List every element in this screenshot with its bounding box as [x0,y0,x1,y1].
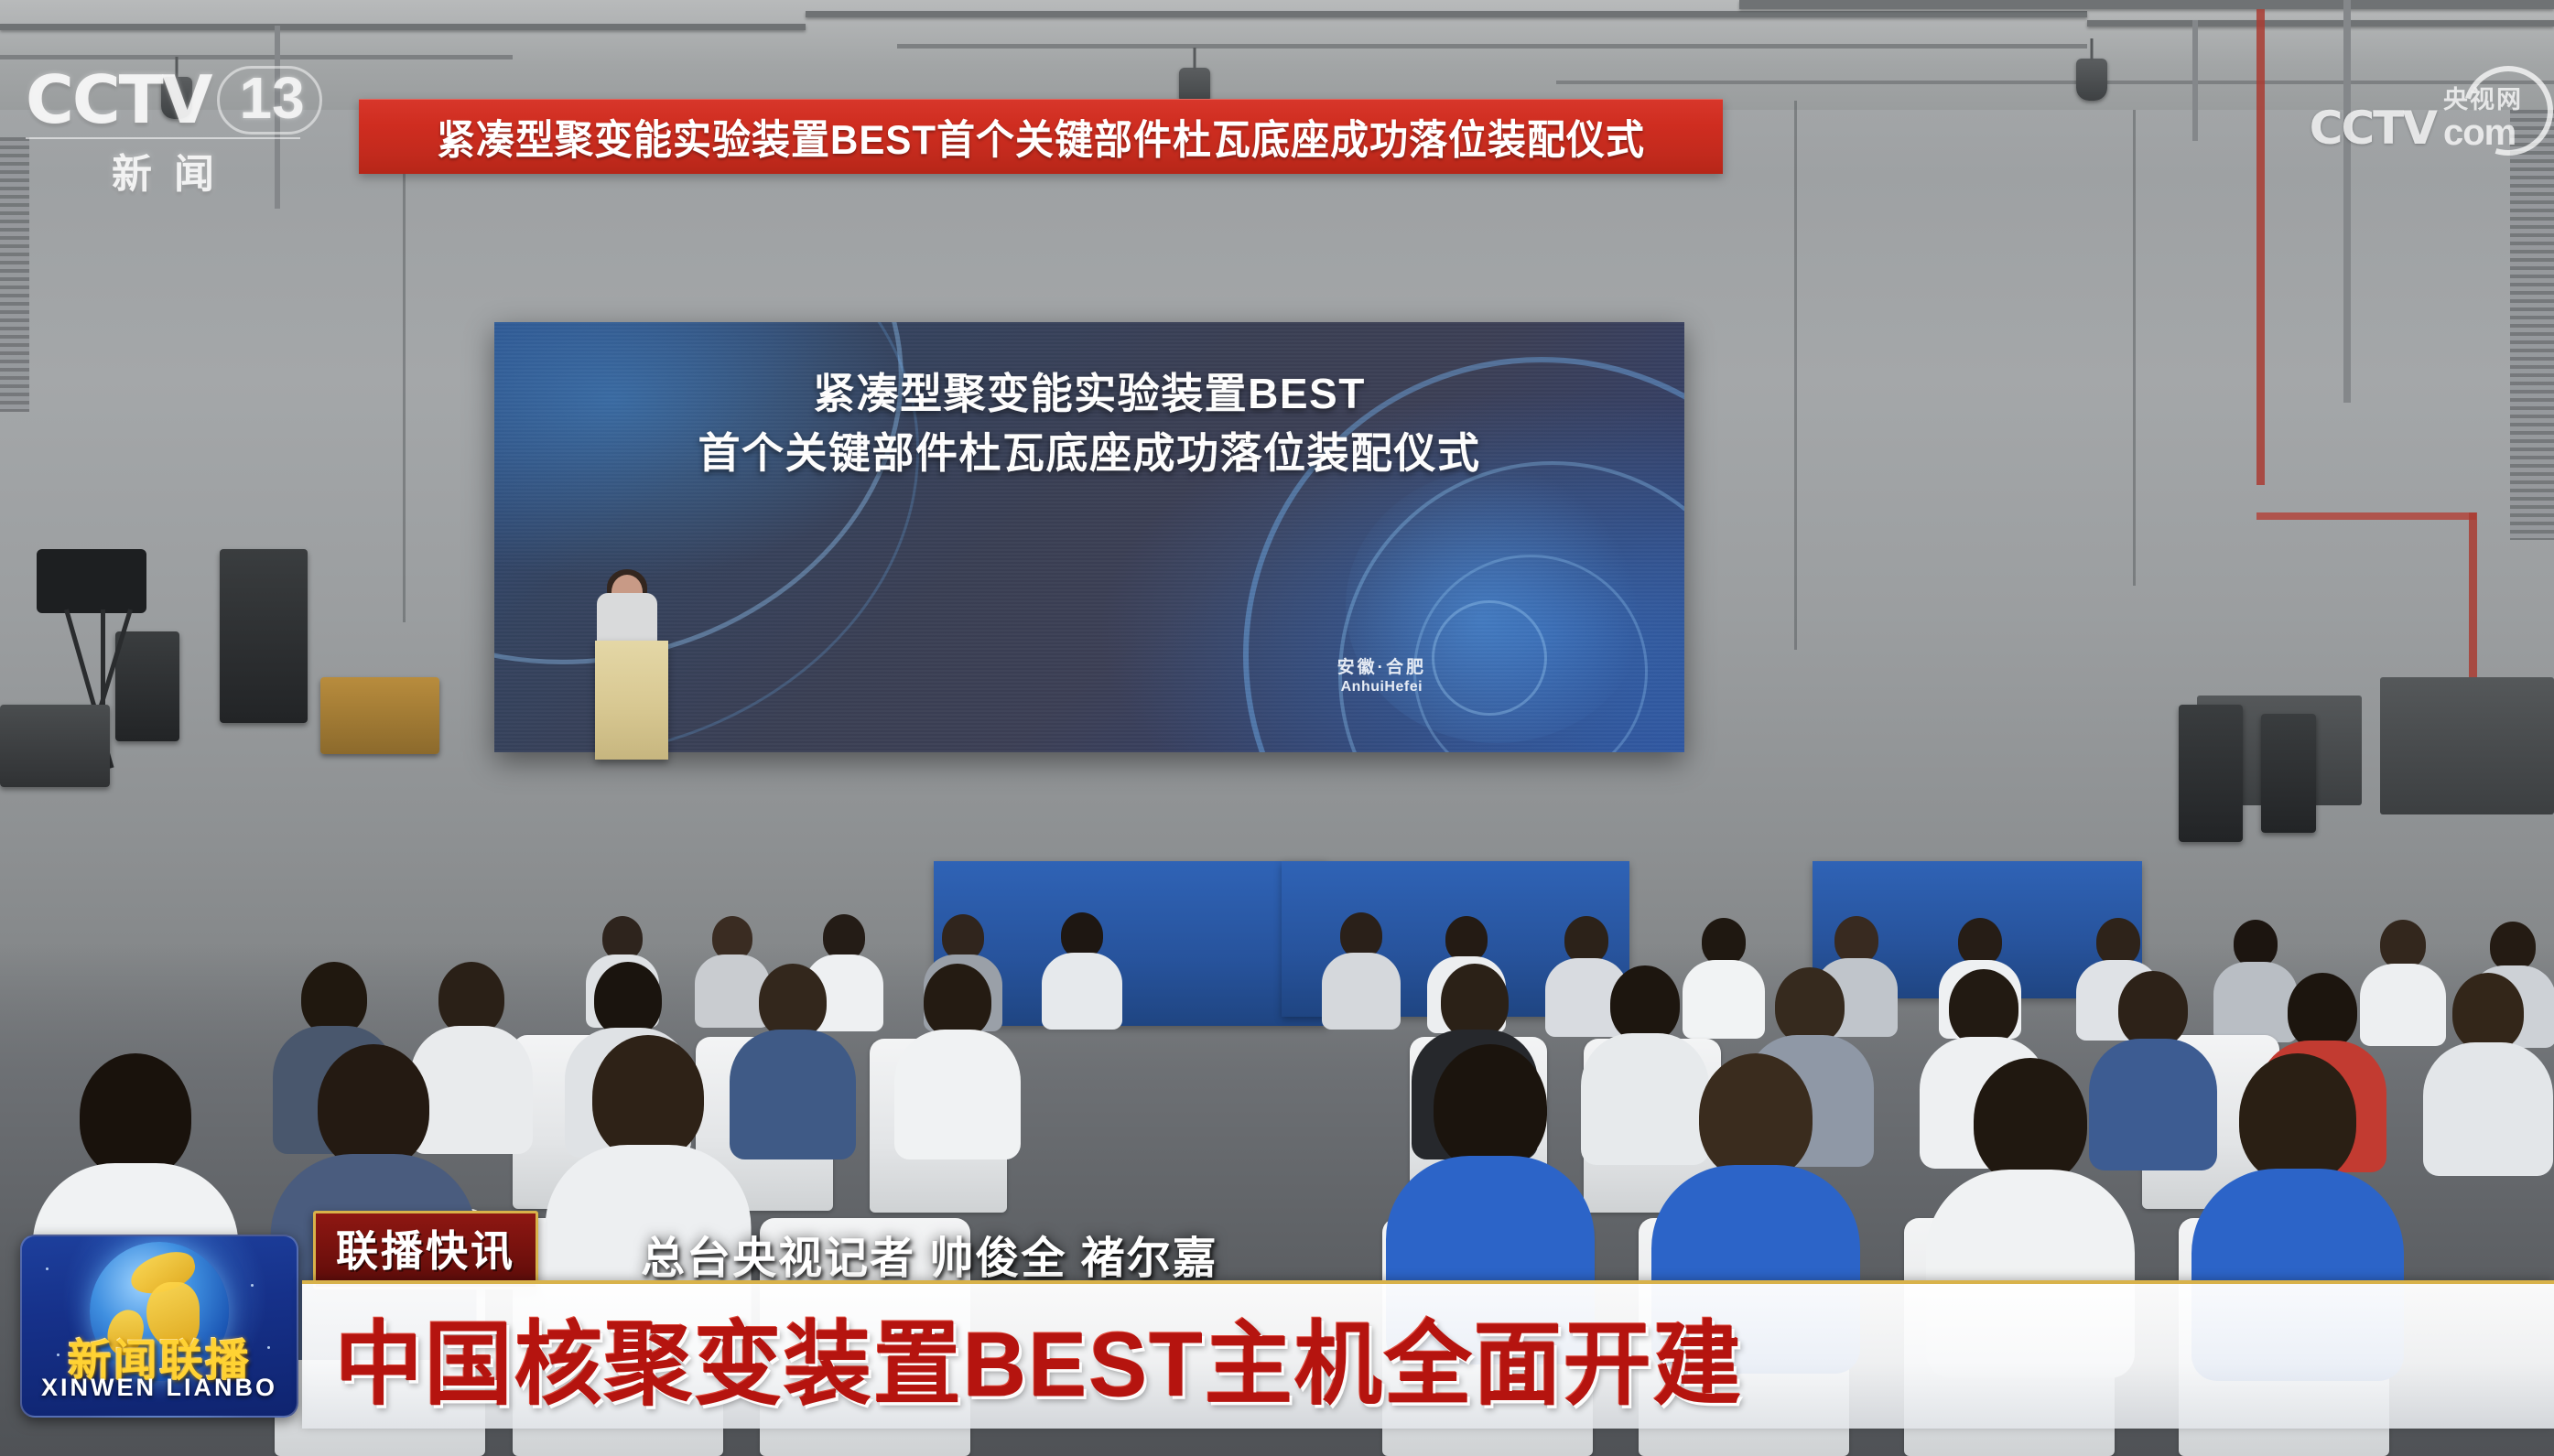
person-head [1441,964,1509,1039]
headline-text: 中国核聚变装置BEST主机全面开建 [335,1290,1743,1423]
audience-member [2426,973,2550,1163]
reporter-credit: 总台央视记者 帅俊全 褚尔嘉 [641,1222,1218,1286]
cctv-com-brand: CCTV [2310,105,2436,151]
podium [595,641,668,760]
person-head [80,1053,191,1178]
cctv-com-watermark: CCTV 央视网 com [2310,88,2523,151]
channel-bug-row: CCTV 13 [26,66,337,135]
ceiling-beam [0,24,806,30]
person-head [1061,912,1103,958]
red-fire-pipe [2256,9,2265,485]
person-head [592,1035,704,1159]
person-head [1958,918,2002,965]
person-head [1434,1044,1547,1170]
person-head [2490,922,2536,971]
person-body [1042,953,1122,1030]
segment-tag: 联播快讯 [313,1211,538,1289]
program-logo: 新闻联播 XINWEN LIANBO [20,1235,298,1418]
channel-bug: CCTV 13 新闻 [26,66,337,176]
camera-rig [37,549,146,613]
av-speaker [115,631,179,741]
av-speaker [220,549,308,723]
wall-seam [1794,101,1797,650]
person-head [1949,969,2018,1046]
led-stage-screen: 紧凑型聚变能实验装置BEST 首个关键部件杜瓦底座成功落位装配仪式 安徽·合肥 … [494,322,1684,752]
ceiling-beam [1739,0,2554,9]
person-body [2423,1042,2553,1176]
person-head [1610,965,1680,1042]
person-head [1699,1053,1813,1180]
person-head [1340,912,1382,958]
segment-tag-text: 联播快讯 [336,1227,515,1275]
person-head [712,916,752,960]
person-head [2096,918,2140,965]
led-title-line1: 紧凑型聚变能实验装置BEST [494,364,1684,424]
audience-member [732,964,853,1150]
channel-bug-number: 13 [217,66,322,135]
person-head [2239,1053,2356,1183]
person-body [730,1030,856,1159]
person-head [318,1044,429,1169]
program-logo-en: XINWEN LIANBO [22,1374,297,1402]
person-head [1702,918,1746,965]
channel-bug-word: CCTV [26,69,211,131]
lower-third: 新闻联播 XINWEN LIANBO 联播快讯 总台央视记者 帅俊全 褚尔嘉 中… [0,1181,2554,1456]
hanging-lamp [2076,59,2107,101]
person-head [2380,920,2426,969]
person-head [759,964,827,1039]
person-head [1445,916,1488,962]
led-title: 紧凑型聚变能实验装置BEST 首个关键部件杜瓦底座成功落位装配仪式 [494,364,1684,484]
audience-member [1044,912,1120,1026]
ceiling-pipe [1556,81,2554,84]
led-place-label: 安徽·合肥 AnhuiHefei [1337,653,1426,696]
person-head [924,964,991,1039]
ceiling-beam [806,11,2087,17]
headline-bar: 中国核聚变装置BEST主机全面开建 [302,1280,2554,1429]
ceiling-beam [2087,20,2554,27]
person-body [1322,953,1401,1030]
led-title-line2: 首个关键部件杜瓦底座成功落位装配仪式 [494,424,1684,483]
screen-swirl-graphic [1432,600,1547,716]
person-head [2234,920,2278,967]
vertical-pipe [2192,20,2198,141]
led-place-cn: 安徽·合肥 [1337,653,1426,678]
person-head [1974,1058,2087,1184]
red-fire-pipe [2469,512,2477,696]
person-head [2118,971,2188,1048]
venue-banner-text: 紧凑型聚变能实验装置BEST首个关键部件杜瓦底座成功落位装配仪式 [437,107,1645,167]
person-head [301,962,367,1035]
channel-bug-subtitle: 新闻 [26,141,300,200]
person-head [2452,973,2524,1052]
venue-banner: 紧凑型聚变能实验装置BEST首个关键部件杜瓦底座成功落位装配仪式 [359,99,1723,174]
wall-seam [2133,110,2136,586]
wall-seam [403,110,406,622]
person-head [823,914,865,960]
broadcast-frame: 紧凑型聚变能实验装置BEST首个关键部件杜瓦底座成功落位装配仪式 紧凑型聚变能实… [0,0,2554,1456]
person-head [2288,973,2357,1050]
person-head [438,962,504,1035]
person-head [1564,916,1608,964]
ceiling-pipe [0,55,513,59]
ceiling-pipe [897,44,2087,49]
wall-grille [2510,110,2554,540]
star-speck [46,1267,49,1270]
person-head [602,916,643,960]
person-head [1775,967,1845,1044]
audience-member [1323,912,1400,1026]
person-head [1834,916,1878,964]
star-speck [251,1284,254,1287]
person-body [894,1030,1021,1159]
led-place-en: AnhuiHefei [1337,679,1426,696]
person-head [942,914,984,960]
vertical-pipe [2343,0,2351,403]
audience-member [897,964,1018,1150]
red-fire-pipe [2256,512,2476,520]
person-head [594,962,662,1037]
stage-crate [320,677,439,754]
